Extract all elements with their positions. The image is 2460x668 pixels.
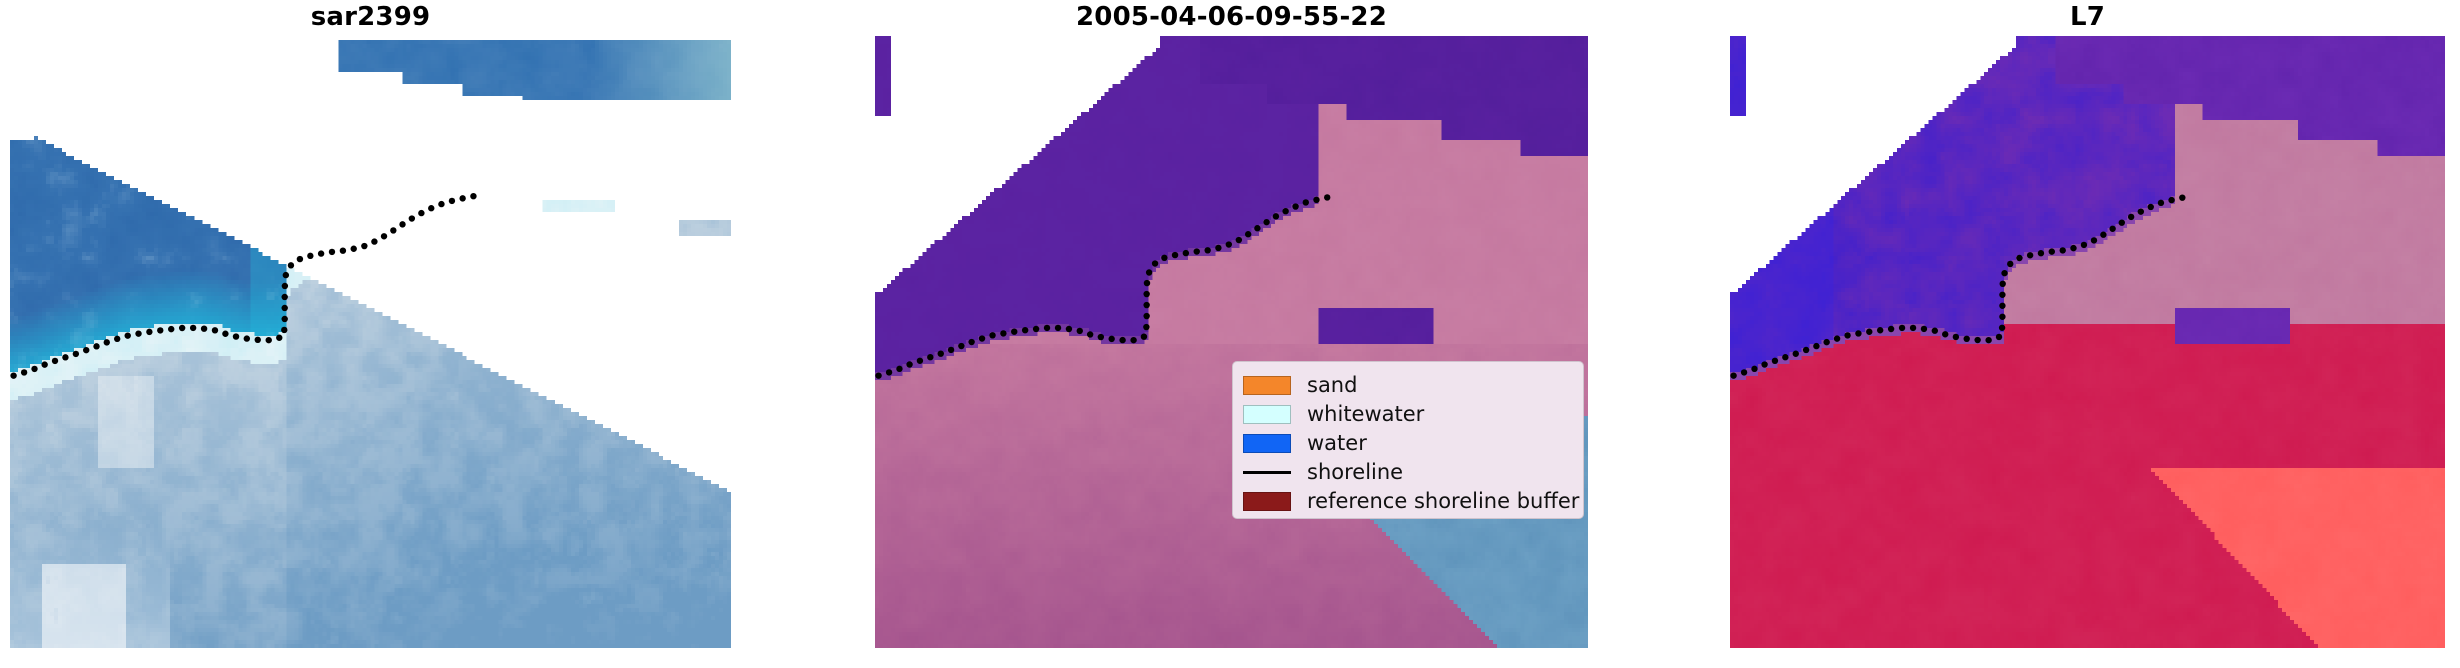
panel-title-l7: L7: [1730, 2, 2445, 32]
panel-classified: 2005-04-06-09-55-22: [875, 0, 1588, 668]
panel-sar: sar2399: [10, 0, 731, 668]
raster-l7: [1730, 36, 2445, 648]
legend-color-swatch: [1243, 405, 1291, 424]
legend-label: shoreline: [1307, 462, 1403, 483]
legend-color-swatch: [1243, 376, 1291, 395]
panel-title-classified: 2005-04-06-09-55-22: [875, 2, 1588, 32]
raster-sar: [10, 36, 731, 648]
legend-entry-shoreline: shoreline: [1243, 458, 1571, 487]
panel-title-sar: sar2399: [10, 2, 731, 32]
legend-label: whitewater: [1307, 404, 1424, 425]
panel-l7: L7: [1730, 0, 2445, 668]
legend-color-swatch: [1243, 434, 1291, 453]
legend-entry-sand: sand: [1243, 371, 1571, 400]
figure-canvas: sar2399 2005-04-06-09-55-22 L7 sandwhite…: [0, 0, 2460, 668]
map-legend: sandwhitewaterwatershorelinereference sh…: [1232, 361, 1584, 519]
axes-classified: [875, 36, 1588, 648]
legend-label: reference shoreline buffer: [1307, 491, 1579, 512]
legend-line-swatch: [1243, 463, 1291, 482]
legend-entry-water: water: [1243, 429, 1571, 458]
axes-l7: [1730, 36, 2445, 648]
raster-classified: [875, 36, 1588, 648]
axes-sar: [10, 36, 731, 648]
legend-color-swatch: [1243, 492, 1291, 511]
legend-label: water: [1307, 433, 1367, 454]
legend-entry-whitewater: whitewater: [1243, 400, 1571, 429]
legend-label: sand: [1307, 375, 1357, 396]
legend-entry-reference-shoreline-buffer: reference shoreline buffer: [1243, 487, 1571, 516]
